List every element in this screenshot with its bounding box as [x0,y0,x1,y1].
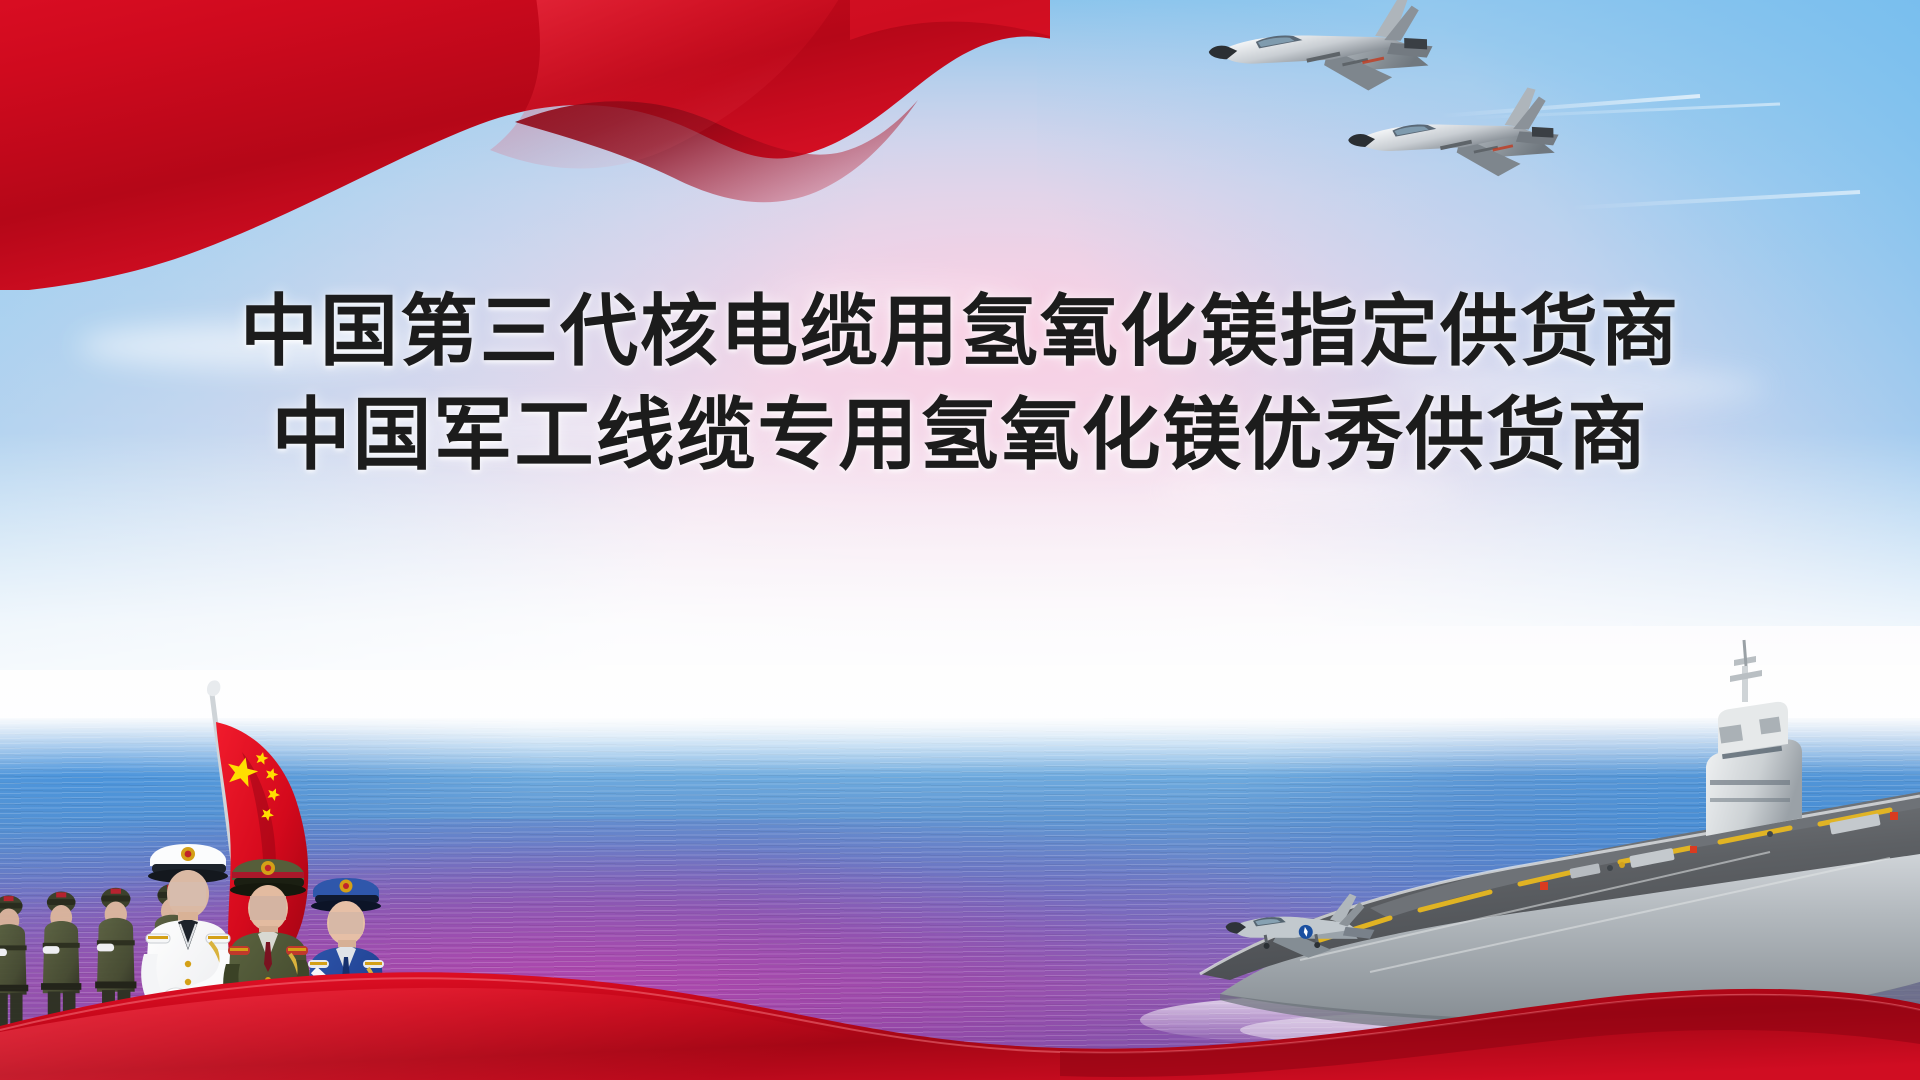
carrier-island [1706,640,1802,836]
headline-line-2: 中国军工线缆专用氢氧化镁优秀供货商 [0,383,1920,487]
fighter-jet [1206,0,1439,121]
headline-block: 中国第三代核电缆用氢氧化镁指定供货商 中国军工线缆专用氢氧化镁优秀供货商 [0,280,1920,487]
promotional-banner: 中国第三代核电缆用氢氧化镁指定供货商 中国军工线缆专用氢氧化镁优秀供货商 [0,0,1920,1080]
fighter-jet [1345,83,1564,205]
headline-line-1: 中国第三代核电缆用氢氧化镁指定供货商 [0,280,1920,383]
red-ribbon-bottom [0,934,1920,1080]
fighter-jets-graphic [1140,0,1920,300]
